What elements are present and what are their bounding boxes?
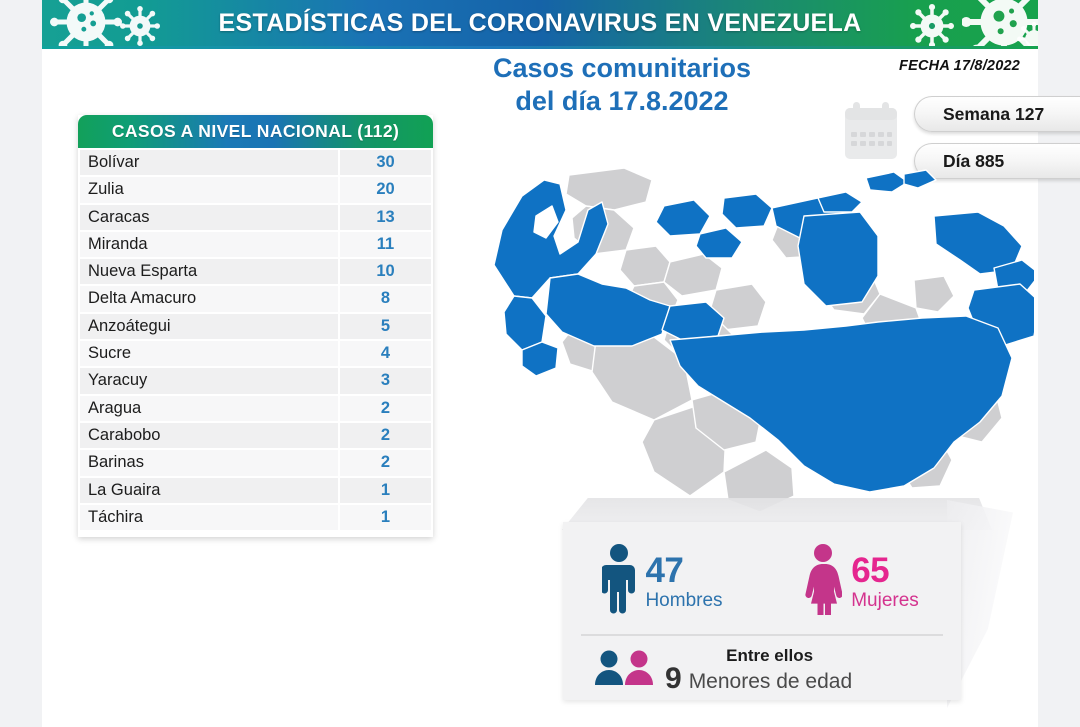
state-cases: 5 <box>340 314 431 339</box>
minors-stat: Entre ellos 9 Menores de edad <box>563 640 961 700</box>
table-body: Bolívar30 Zulia20 Caracas13 Miranda11 Nu… <box>78 148 433 537</box>
national-cases-table: CASOS A NIVEL NACIONAL (112) Bolívar30 Z… <box>78 115 433 537</box>
table-row[interactable]: Táchira1 <box>80 505 431 530</box>
table-row[interactable]: Bolívar30 <box>80 150 431 175</box>
gender-stats: 47 Hombres 65 Mujeres <box>563 522 961 632</box>
state-name: Sucre <box>80 341 338 366</box>
page-background: ESTADÍSTICAS DEL CORONAVIRUS EN VENEZUEL… <box>0 0 1080 727</box>
subtitle-line-2: del día 17.8.2022 <box>372 85 872 118</box>
fecha-label: FECHA 17/8/2022 <box>899 58 1020 74</box>
state-name: Anzoátegui <box>80 314 338 339</box>
two-persons-icon <box>593 649 657 692</box>
male-stat: 47 Hombres <box>563 522 762 632</box>
state-name: Táchira <box>80 505 338 530</box>
state-cases: 4 <box>340 341 431 366</box>
state-cases: 2 <box>340 423 431 448</box>
minors-line: 9 Menores de edad <box>665 666 852 695</box>
state-cases: 20 <box>340 177 431 202</box>
table-row[interactable]: Aragua2 <box>80 396 431 421</box>
table-row[interactable]: Delta Amacuro8 <box>80 286 431 311</box>
state-name: Delta Amacuro <box>80 286 338 311</box>
table-row[interactable]: Barinas2 <box>80 450 431 475</box>
infographic-canvas: ESTADÍSTICAS DEL CORONAVIRUS EN VENEZUEL… <box>42 0 1038 727</box>
state-cases: 1 <box>340 478 431 503</box>
state-cases: 3 <box>340 368 431 393</box>
page-title: ESTADÍSTICAS DEL CORONAVIRUS EN VENEZUEL… <box>42 0 1038 46</box>
state-cases: 8 <box>340 286 431 311</box>
female-text: 65 Mujeres <box>851 553 919 610</box>
female-count: 65 <box>851 553 919 588</box>
minors-intro: Entre ellos <box>687 646 852 666</box>
male-label: Hombres <box>645 591 722 610</box>
female-stat: 65 Mujeres <box>762 522 961 632</box>
state-cases: 30 <box>340 150 431 175</box>
banner-underline <box>42 46 1038 49</box>
table-row[interactable]: Sucre4 <box>80 341 431 366</box>
semana-badge[interactable]: Semana 127 <box>914 96 1080 132</box>
female-label: Mujeres <box>851 591 919 610</box>
state-name: Bolívar <box>80 150 338 175</box>
male-figure-icon <box>602 543 636 620</box>
table-row[interactable]: Miranda11 <box>80 232 431 257</box>
male-count: 47 <box>645 553 722 588</box>
male-text: 47 Hombres <box>645 553 722 610</box>
state-cases: 2 <box>340 450 431 475</box>
subtitle-line-1: Casos comunitarios <box>372 52 872 85</box>
state-name: Caracas <box>80 205 338 230</box>
table-row[interactable]: Carabobo2 <box>80 423 431 448</box>
state-name: Miranda <box>80 232 338 257</box>
state-name: Barinas <box>80 450 338 475</box>
state-cases: 13 <box>340 205 431 230</box>
table-row[interactable]: La Guaira1 <box>80 478 431 503</box>
state-name: La Guaira <box>80 478 338 503</box>
state-name: Carabobo <box>80 423 338 448</box>
state-name: Aragua <box>80 396 338 421</box>
state-name: Nueva Esparta <box>80 259 338 284</box>
table-row[interactable]: Nueva Esparta10 <box>80 259 431 284</box>
state-cases: 10 <box>340 259 431 284</box>
header-banner: ESTADÍSTICAS DEL CORONAVIRUS EN VENEZUEL… <box>42 0 1038 46</box>
state-cases: 11 <box>340 232 431 257</box>
table-row[interactable]: Caracas13 <box>80 205 431 230</box>
table-row[interactable]: Zulia20 <box>80 177 431 202</box>
state-cases: 1 <box>340 505 431 530</box>
subtitle-block: Casos comunitarios del día 17.8.2022 <box>372 52 872 118</box>
table-row[interactable]: Yaracuy3 <box>80 368 431 393</box>
minors-count: 9 <box>665 666 682 692</box>
table-header: CASOS A NIVEL NACIONAL (112) <box>78 115 433 148</box>
panel-divider <box>581 634 943 636</box>
state-name: Zulia <box>80 177 338 202</box>
female-figure-icon <box>804 543 842 620</box>
state-name: Yaracuy <box>80 368 338 393</box>
state-cases: 2 <box>340 396 431 421</box>
venezuela-map[interactable] <box>474 150 1034 518</box>
table-row[interactable]: Anzoátegui5 <box>80 314 431 339</box>
minors-text: Entre ellos 9 Menores de edad <box>665 646 852 695</box>
minors-label: Menores de edad <box>689 669 852 695</box>
demographics-panel: 47 Hombres 65 Mujeres <box>563 522 961 700</box>
